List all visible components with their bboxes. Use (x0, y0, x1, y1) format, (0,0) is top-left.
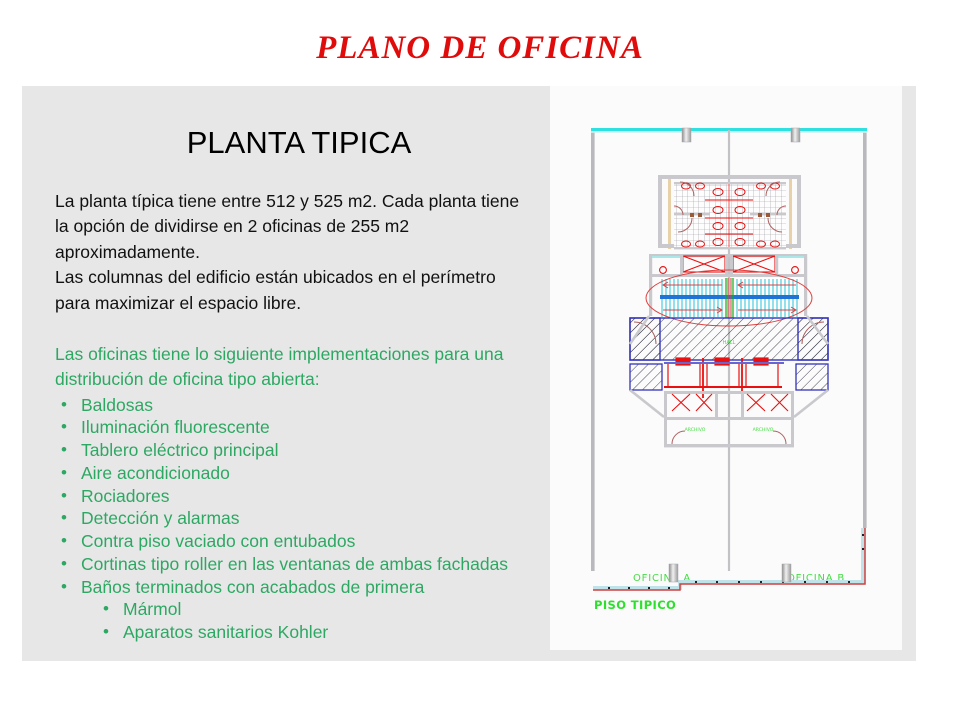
bullet-icon: • (61, 416, 67, 438)
list-item: •Baños terminados con acabados de primer… (55, 576, 525, 599)
list-item-label: Mármol (123, 599, 181, 619)
section-heading: PLANTA TIPICA (55, 125, 525, 161)
bullet-icon: • (61, 394, 67, 416)
list-item-label: Contra piso vaciado con entubados (81, 531, 355, 551)
features-block: Las oficinas tiene lo siguiente implemen… (55, 342, 525, 644)
bullet-icon: • (61, 439, 67, 461)
lobby-label: HALL (723, 340, 736, 346)
list-item: •Aparatos sanitarios Kohler (97, 621, 525, 644)
features-list: •Baldosas •Iluminación fluorescente •Tab… (55, 394, 525, 599)
slide-canvas: PLANO DE OFICINA PLANTA TIPICA La planta… (0, 0, 960, 720)
paragraph-1: La planta típica tiene entre 512 y 525 m… (55, 189, 525, 265)
list-item: •Rociadores (55, 485, 525, 508)
bullet-icon: • (61, 485, 67, 507)
features-sublist: •Mármol •Aparatos sanitarios Kohler (55, 598, 525, 644)
paragraph-2: Las columnas del edificio están ubicados… (55, 265, 525, 316)
list-item: •Tablero eléctrico principal (55, 439, 525, 462)
features-intro: Las oficinas tiene lo siguiente implemen… (55, 342, 525, 393)
list-item-label: Detección y alarmas (81, 508, 240, 528)
list-item: •Contra piso vaciado con entubados (55, 530, 525, 553)
bullet-icon: • (103, 598, 109, 620)
bathroom-core (658, 175, 801, 249)
plan-caption: PISO TIPICO (594, 598, 676, 612)
floor-plan-card: HALL (550, 86, 902, 650)
bullet-icon: • (61, 576, 67, 598)
archivo-left-label: ARCHIVO (685, 427, 706, 433)
bullet-icon: • (61, 462, 67, 484)
list-item-label: Rociadores (81, 486, 170, 506)
list-item-label: Aire acondicionado (81, 463, 230, 483)
archivo-right-label: ARCHIVO (753, 427, 774, 433)
list-item-label: Tablero eléctrico principal (81, 440, 278, 460)
list-item: •Iluminación fluorescente (55, 416, 525, 439)
bullet-icon: • (61, 507, 67, 529)
bullet-icon: • (103, 621, 109, 643)
text-column: PLANTA TIPICA La planta típica tiene ent… (55, 125, 525, 644)
list-item: •Aire acondicionado (55, 462, 525, 485)
list-item-label: Aparatos sanitarios Kohler (123, 622, 328, 642)
list-item: •Mármol (97, 598, 525, 621)
page-title: PLANO DE OFICINA (0, 30, 960, 67)
list-item-label: Baños terminados con acabados de primera (81, 577, 424, 597)
floor-plan-drawing: HALL (550, 86, 902, 650)
list-item: •Baldosas (55, 394, 525, 417)
bullet-icon: • (61, 553, 67, 575)
list-item-label: Iluminación fluorescente (81, 417, 270, 437)
list-item: •Cortinas tipo roller en las ventanas de… (55, 553, 525, 576)
description-paragraphs: La planta típica tiene entre 512 y 525 m… (55, 189, 525, 316)
list-item-label: Baldosas (81, 395, 153, 415)
list-item: •Detección y alarmas (55, 507, 525, 530)
bullet-icon: • (61, 530, 67, 552)
list-item-label: Cortinas tipo roller en las ventanas de … (81, 554, 508, 574)
